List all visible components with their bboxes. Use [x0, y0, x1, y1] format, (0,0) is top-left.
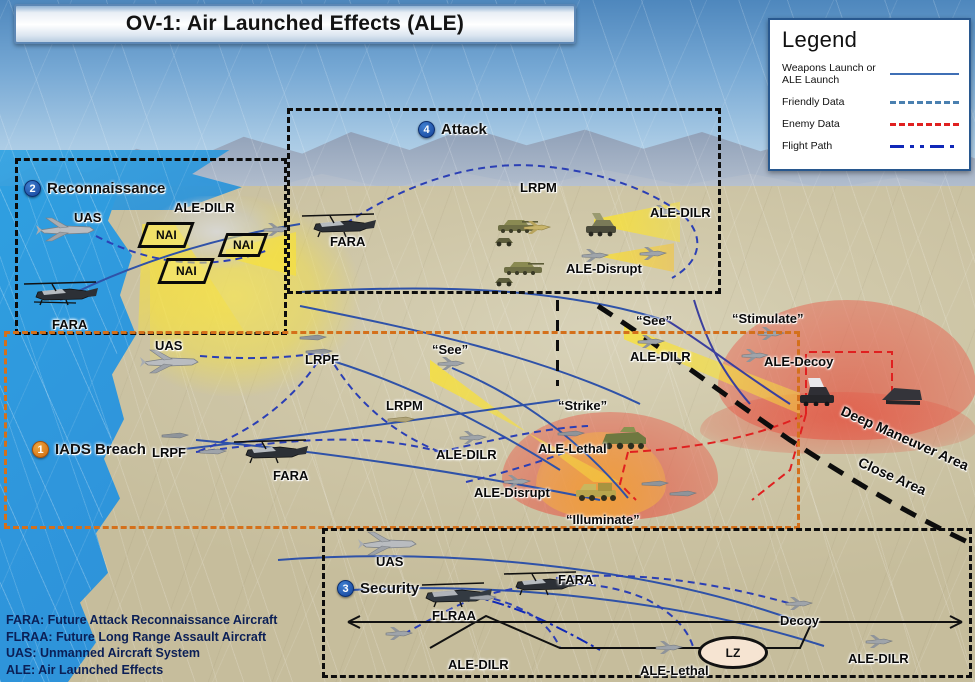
zone-badge-1: 1 — [32, 441, 49, 458]
label-stimulate-deep: “Stimulate” — [732, 311, 804, 326]
label-ale-decoy-deep: ALE-Decoy — [764, 354, 833, 369]
enemy-sam-deep — [794, 376, 844, 406]
label-uas-recon: UAS — [74, 210, 101, 225]
zone-label-attack: Attack — [441, 121, 487, 138]
legend-row-flight-path: Flight Path — [782, 140, 959, 152]
label-illuminate-center: “Illuminate” — [566, 512, 640, 527]
nai-marker-1: NAI — [137, 222, 194, 248]
label-ale-dilr-center: ALE-DILR — [436, 447, 497, 462]
legend-row-enemy-data: Enemy Data — [782, 118, 959, 130]
enemy-launcher-deep — [880, 384, 924, 408]
label-ale-disrupt-center: ALE-Disrupt — [474, 485, 550, 500]
label-uas-security: UAS — [376, 554, 403, 569]
nai-marker-3: NAI — [157, 258, 214, 284]
label-lrpm-attack: LRPM — [520, 180, 557, 195]
legend-row-friendly-data: Friendly Data — [782, 96, 959, 108]
nai-label-2: NAI — [233, 238, 254, 252]
label-ale-dilr-recon: ALE-DILR — [174, 200, 235, 215]
legend-heading: Legend — [782, 27, 959, 53]
label-ale-lethal-center: ALE-Lethal — [538, 441, 607, 456]
label-fara-iads: FARA — [273, 468, 308, 483]
nai-marker-2: NAI — [218, 233, 269, 257]
zone-title-iads-breach: 1 IADS Breach — [32, 441, 146, 458]
acronym-flraa: FLRAA: Future Long Range Assault Aircraf… — [6, 629, 277, 646]
legend-panel: Legend Weapons Launch or ALE Launch Frie… — [768, 18, 971, 171]
label-fara-recon: FARA — [52, 317, 87, 332]
legend-swatch-enemy-data — [890, 118, 959, 130]
legend-row-weapons-launch: Weapons Launch or ALE Launch — [782, 62, 959, 86]
legend-swatch-weapons-launch — [890, 68, 959, 80]
legend-label-weapons-launch: Weapons Launch or ALE Launch — [782, 62, 890, 86]
zone-label-iads-breach: IADS Breach — [55, 441, 146, 458]
label-ale-dilr-deep: ALE-DILR — [630, 349, 691, 364]
zone-label-reconnaissance: Reconnaissance — [47, 180, 165, 197]
acronym-fara: FARA: Future Attack Reconnaissance Aircr… — [6, 612, 277, 629]
label-uas-iads: UAS — [155, 338, 182, 353]
label-ale-dilr-security-left: ALE-DILR — [448, 657, 509, 672]
acronym-ale: ALE: Air Launched Effects — [6, 662, 277, 679]
legend-swatch-friendly-data — [890, 96, 959, 108]
zone-title-reconnaissance: 2 Reconnaissance — [24, 180, 165, 197]
nai-label-1: NAI — [156, 228, 177, 242]
label-fara-attack: FARA — [330, 234, 365, 249]
page-title-text: OV-1: Air Launched Effects (ALE) — [126, 12, 464, 36]
label-lrpf-lower: LRPF — [152, 445, 186, 460]
label-fara-security: FARA — [558, 572, 593, 587]
zone-separator-attack-right — [556, 300, 559, 386]
nai-label-3: NAI — [176, 264, 197, 278]
zone-title-security: 3 Security — [337, 580, 419, 597]
ov1-diagram: NAI NAI NAI LZ 2 Reconnaissance 4 Attack… — [0, 0, 975, 682]
zone-boundary-attack — [287, 108, 721, 294]
label-flraa-security: FLRAA — [432, 608, 476, 623]
zone-badge-2: 2 — [24, 180, 41, 197]
acronym-uas: UAS: Unmanned Aircraft System — [6, 645, 277, 662]
lz-label: LZ — [726, 646, 741, 660]
label-ale-dilr-security-right: ALE-DILR — [848, 651, 909, 666]
legend-label-enemy-data: Enemy Data — [782, 118, 890, 130]
label-strike-center: “Strike” — [558, 398, 607, 413]
zone-badge-3: 3 — [337, 580, 354, 597]
legend-label-flight-path: Flight Path — [782, 140, 890, 152]
label-lrpm-iads: LRPM — [386, 398, 423, 413]
label-ale-disrupt-attack: ALE-Disrupt — [566, 261, 642, 276]
zone-badge-4: 4 — [418, 121, 435, 138]
acronym-key: FARA: Future Attack Reconnaissance Aircr… — [6, 612, 277, 678]
label-see-center: “See” — [432, 342, 468, 357]
label-see-deep: “See” — [636, 313, 672, 328]
page-title: OV-1: Air Launched Effects (ALE) — [14, 4, 576, 44]
legend-swatch-flight-path — [890, 140, 959, 152]
label-lrpf-upper: LRPF — [305, 352, 339, 367]
label-ale-dilr-attack: ALE-DILR — [650, 205, 711, 220]
zone-label-security: Security — [360, 580, 419, 597]
legend-label-friendly-data: Friendly Data — [782, 96, 890, 108]
zone-title-attack: 4 Attack — [418, 121, 487, 138]
label-decoy-security: Decoy — [780, 613, 819, 628]
label-ale-lethal-security: ALE-Lethal — [640, 663, 709, 678]
